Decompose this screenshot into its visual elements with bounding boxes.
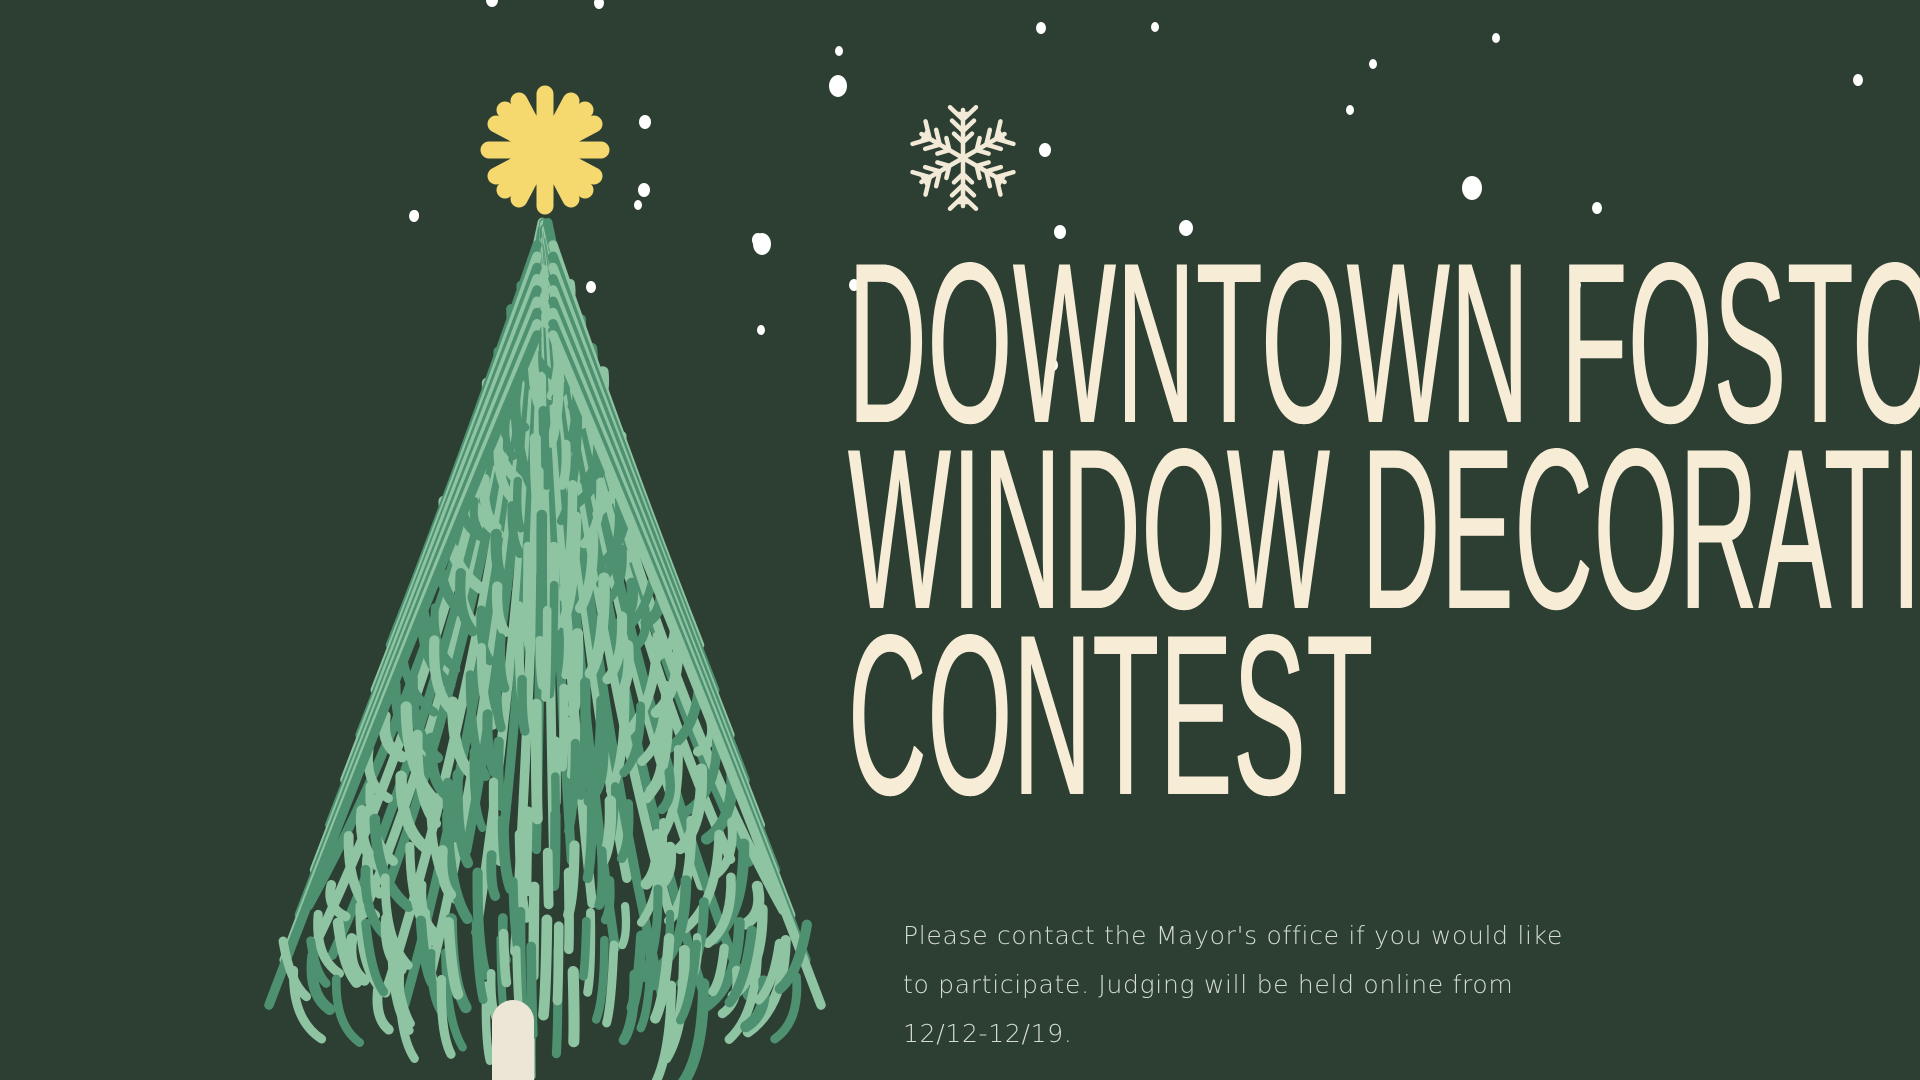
snow-dot xyxy=(486,0,498,7)
snow-dot xyxy=(752,233,764,247)
snow-dot xyxy=(639,115,651,129)
snow-dot xyxy=(1853,74,1863,86)
headline-line-3: CONTEST xyxy=(848,608,1474,790)
contest-instructions-paragraph: Please contact the Mayor's office if you… xyxy=(903,912,1583,1058)
headline-block: DOWNTOWN FOSTORIA WINDOW DECORATING CONT… xyxy=(848,236,1858,748)
snow-dot xyxy=(594,0,604,9)
poster-canvas: DOWNTOWN FOSTORIA WINDOW DECORATING CONT… xyxy=(0,0,1920,1080)
snow-dot xyxy=(1369,59,1377,69)
snow-dot xyxy=(411,210,419,220)
snow-dot xyxy=(586,281,596,293)
snow-dot xyxy=(757,325,765,335)
snow-dot xyxy=(835,46,843,56)
snow-dot xyxy=(638,183,650,197)
snow-dot xyxy=(1462,176,1482,200)
snow-dot xyxy=(829,75,847,97)
snow-dot xyxy=(1346,105,1354,115)
snow-dot xyxy=(1592,202,1602,214)
snow-dot xyxy=(1039,143,1051,157)
headline-line-1: DOWNTOWN FOSTORIA xyxy=(848,236,1474,418)
headline-line-2: WINDOW DECORATING xyxy=(848,422,1474,604)
snow-dot xyxy=(1151,22,1159,32)
snow-dot xyxy=(634,200,642,210)
snow-dot xyxy=(1036,22,1046,34)
snow-dot xyxy=(1492,33,1500,43)
